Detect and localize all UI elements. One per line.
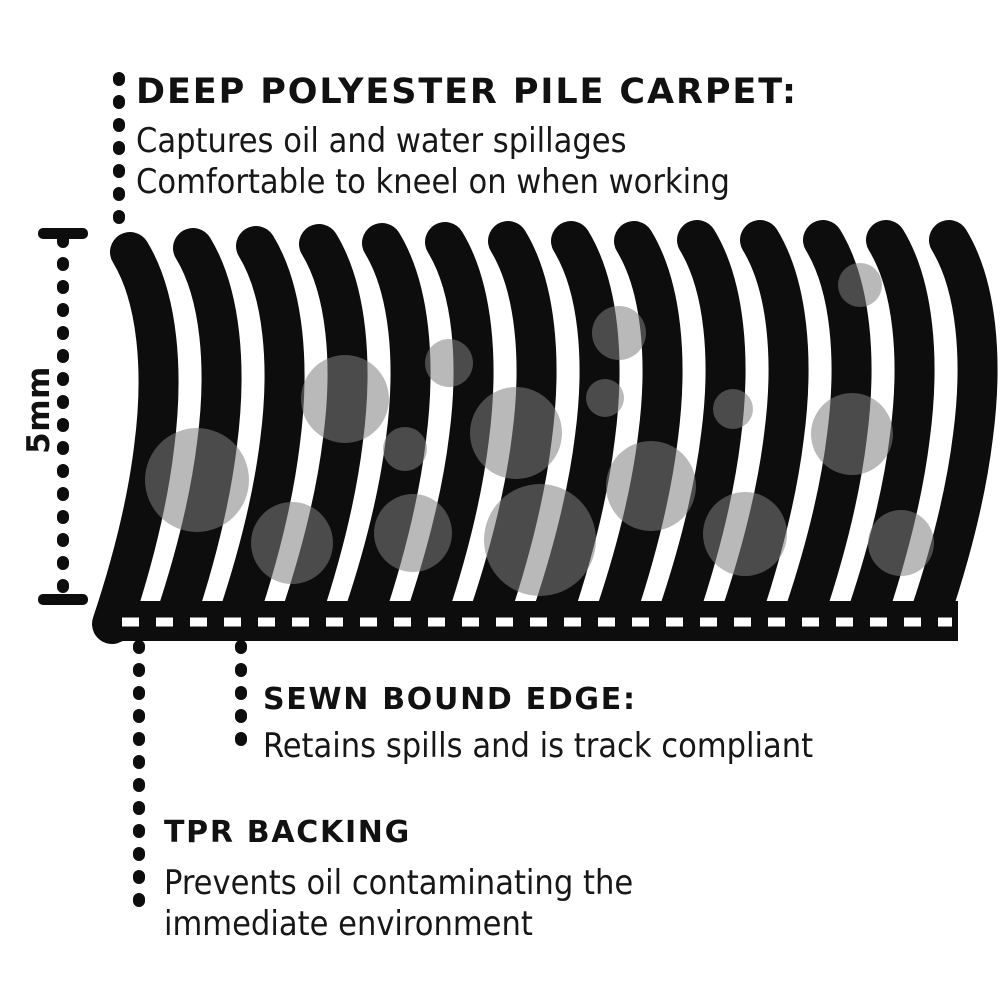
- callout-tpr-backing: TPR BACKING Prevents oil contaminating t…: [164, 817, 633, 945]
- callout-body-tpr-backing: Prevents oil contaminating the immediate…: [164, 863, 633, 946]
- dimension-label-5mm: 5mm: [21, 355, 57, 465]
- spill-droplet: [484, 484, 596, 596]
- diagram-canvas: 5mm DEEP POLYESTER PILE CARPET: Captures…: [0, 0, 1000, 1000]
- callout-line: Prevents oil contaminating the: [164, 863, 633, 904]
- spill-droplet: [470, 387, 562, 479]
- spill-droplet: [838, 263, 882, 307]
- spill-droplet: [586, 379, 624, 417]
- callout-deep-polyester-pile-carpet: DEEP POLYESTER PILE CARPET: Captures oil…: [136, 74, 798, 204]
- callout-line: Comfortable to kneel on when working: [136, 162, 798, 203]
- spill-droplet: [251, 502, 333, 584]
- spill-droplet: [383, 427, 427, 471]
- callout-body-carpet: Captures oil and water spillages Comfort…: [136, 121, 798, 204]
- callout-heading-sewn-edge: SEWN BOUND EDGE:: [263, 684, 813, 716]
- spill-droplet: [811, 393, 893, 475]
- callout-line: Retains spills and is track compliant: [263, 726, 813, 767]
- spill-droplet: [713, 389, 753, 429]
- spill-droplet: [425, 339, 473, 387]
- dimension-cap-bottom: [38, 594, 88, 605]
- spill-droplet: [868, 510, 934, 576]
- spill-droplet: [592, 306, 646, 360]
- spill-droplet: [703, 492, 787, 576]
- spill-droplet: [374, 494, 452, 572]
- callout-heading-carpet: DEEP POLYESTER PILE CARPET:: [136, 74, 798, 111]
- callout-line: Captures oil and water spillages: [136, 121, 798, 162]
- spill-droplet: [301, 355, 389, 443]
- spill-droplet: [606, 441, 696, 531]
- callout-body-sewn-edge: Retains spills and is track compliant: [263, 726, 813, 767]
- callout-heading-tpr-backing: TPR BACKING: [164, 817, 633, 849]
- callout-sewn-bound-edge: SEWN BOUND EDGE: Retains spills and is t…: [263, 684, 813, 767]
- callout-line: immediate environment: [164, 904, 633, 945]
- spill-droplet: [145, 428, 249, 532]
